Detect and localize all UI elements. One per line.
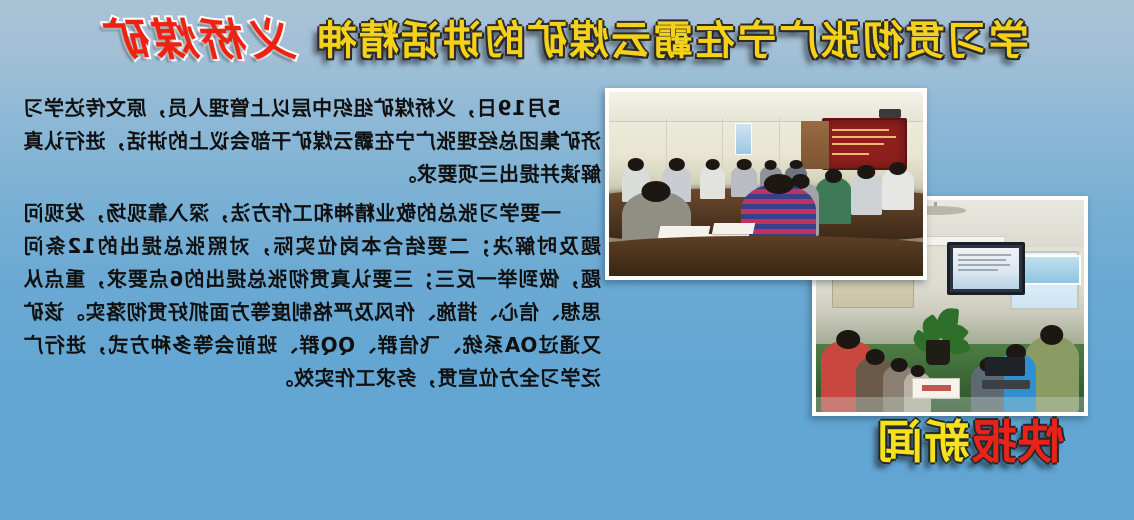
masthead-brand-calligraphy: 义桥煤矿 xyxy=(105,19,297,63)
photo-conference-meeting xyxy=(605,88,927,280)
masthead-headline: 学习贯彻张广宁在霸云煤矿的讲话精神 xyxy=(315,21,1029,61)
bulletin-stamp: 快报 新闻 xyxy=(876,414,1064,470)
bulletin-stamp-part2: 快报 xyxy=(970,419,1064,465)
article-body: 5月19日，义桥煤矿组织中层以上管理人员，原文传达学习济矿集团总经理张广宁在霸云… xyxy=(23,92,601,401)
photo-conference-meeting-content xyxy=(609,92,923,276)
bulletin-stamp-part1: 新闻 xyxy=(876,419,970,465)
masthead: 学习贯彻张广宁在霸云煤矿的讲话精神 义桥煤矿 xyxy=(0,8,1134,74)
article-paragraph-2: 一要学习张总的敬业精神和工作方法，深入靠现场，发现问题及时解决；二要结合本岗位实… xyxy=(23,197,601,395)
article-paragraph-1: 5月19日，义桥煤矿组织中层以上管理人员，原文传达学习济矿集团总经理张广宁在霸云… xyxy=(23,92,601,191)
news-bulletin-poster: 学习贯彻张广宁在霸云煤矿的讲话精神 义桥煤矿 xyxy=(0,0,1134,520)
